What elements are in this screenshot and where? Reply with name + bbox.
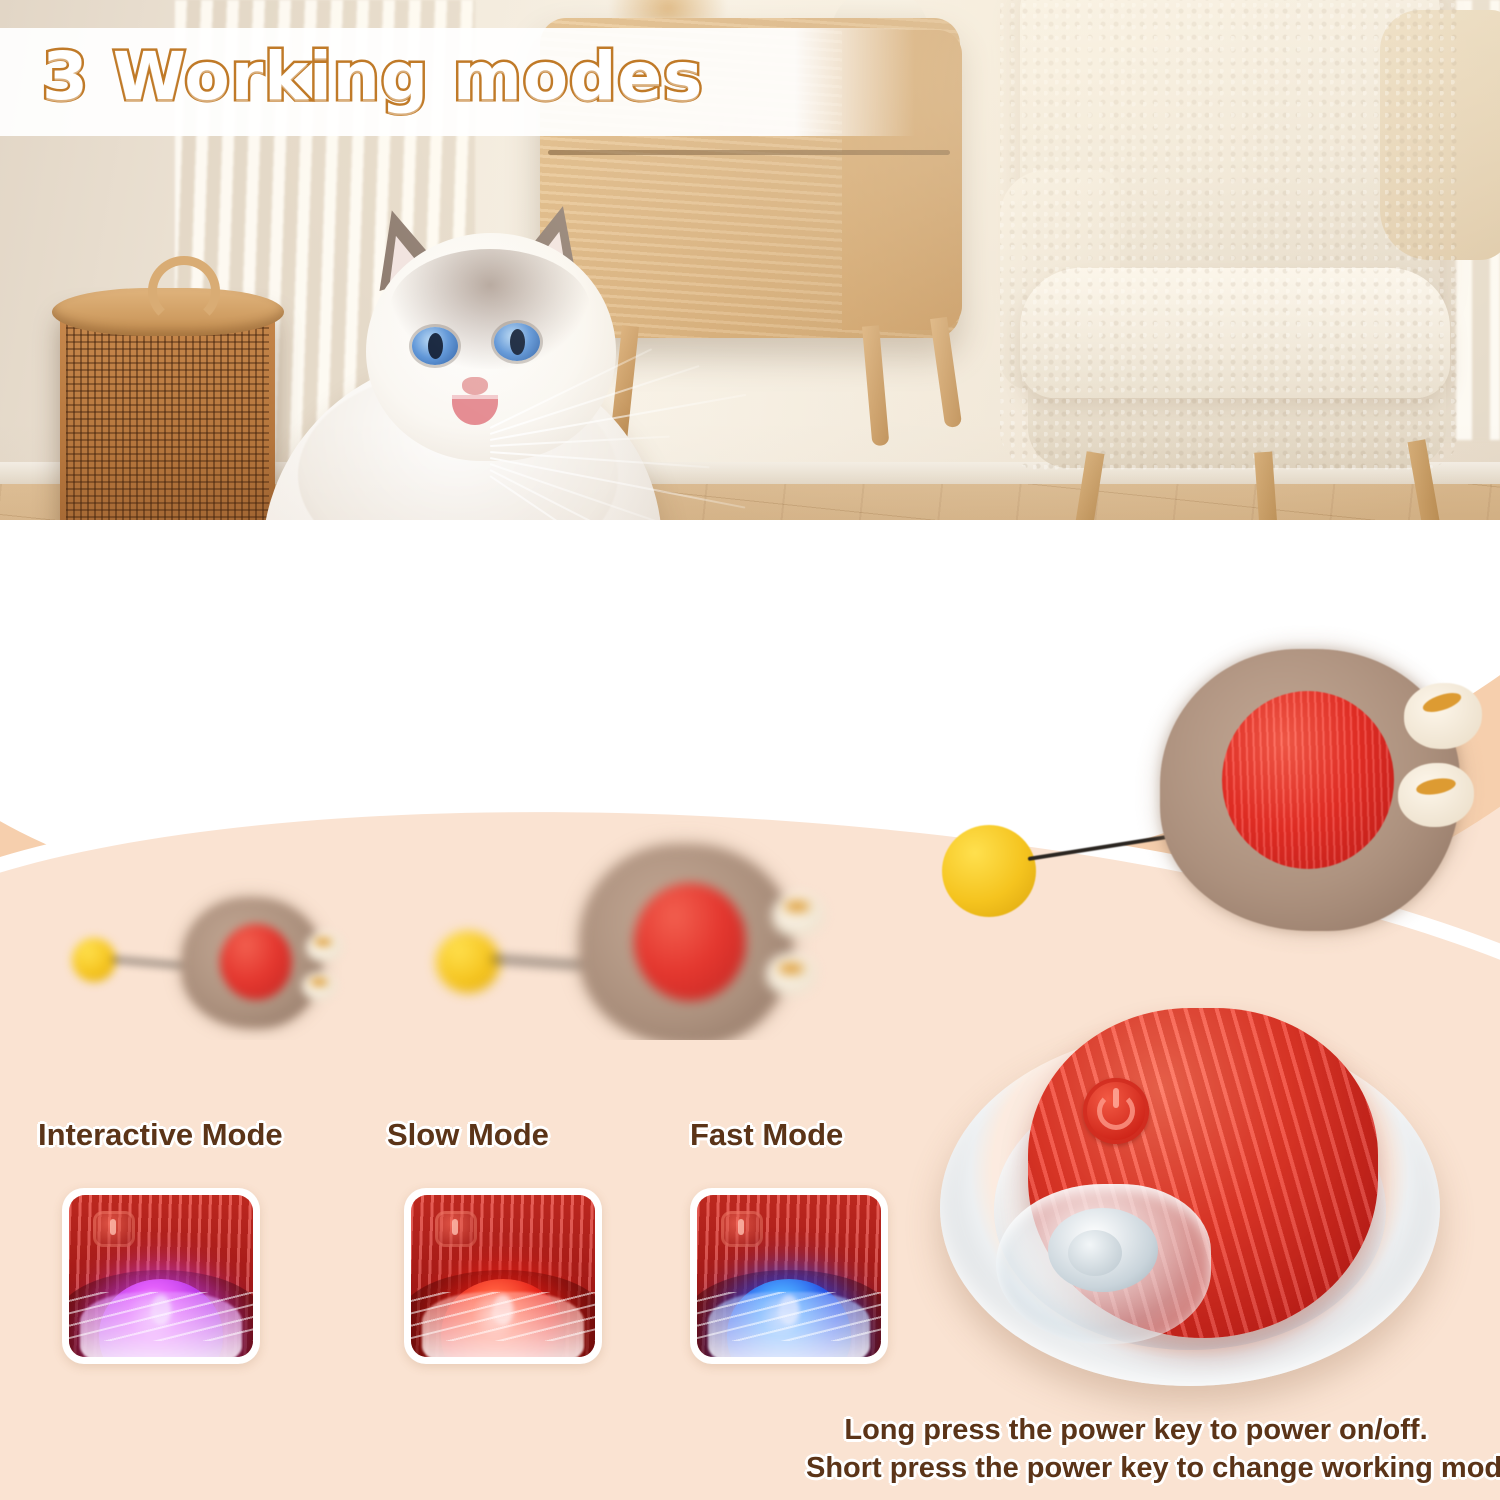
claw-tip bbox=[778, 963, 804, 974]
cat-nose bbox=[462, 377, 488, 395]
claw-tuft bbox=[306, 932, 342, 962]
claw-tip bbox=[310, 978, 328, 986]
clear-base-edges bbox=[69, 1292, 253, 1341]
red-ball bbox=[220, 924, 292, 1000]
claw-tuft bbox=[1404, 683, 1482, 749]
mode-card-interactive[interactable] bbox=[62, 1188, 260, 1364]
cat-whisker bbox=[490, 394, 746, 441]
pom-pom bbox=[72, 938, 116, 982]
mode-label-interactive: Interactive Mode bbox=[38, 1117, 283, 1153]
page-title: 3 Working modes bbox=[42, 38, 703, 115]
motion-band bbox=[0, 520, 1500, 1040]
usage-caption: Long press the power key to power on/off… bbox=[806, 1412, 1466, 1487]
clear-base-edges bbox=[697, 1292, 881, 1341]
power-button-icon bbox=[435, 1211, 477, 1247]
dried-pampas bbox=[608, 0, 728, 20]
drive-wheel-hub bbox=[1068, 1230, 1122, 1276]
ball-ribs bbox=[1222, 691, 1394, 869]
mode-card-fast[interactable] bbox=[690, 1188, 888, 1364]
ball-ribs bbox=[634, 883, 746, 1001]
rolling-ball-instance-small bbox=[70, 890, 360, 1030]
cat-pupil-right bbox=[510, 329, 525, 355]
claw-tip bbox=[314, 938, 332, 946]
rolling-ball-instance-large bbox=[930, 635, 1500, 945]
red-ball bbox=[634, 883, 746, 1001]
ball-ribs bbox=[220, 924, 292, 1000]
mode-photo-fast bbox=[697, 1195, 881, 1357]
cat-whisker bbox=[490, 436, 670, 447]
title-banner-fade bbox=[795, 28, 915, 136]
power-button-icon bbox=[721, 1211, 763, 1247]
claw-tuft bbox=[766, 953, 816, 995]
boucle-texture bbox=[1000, 0, 1460, 470]
clear-base-edges bbox=[411, 1292, 595, 1341]
cat-whisker bbox=[490, 451, 710, 468]
claw-tuft bbox=[302, 972, 336, 1000]
claw-tuft bbox=[1398, 763, 1474, 827]
hero-product bbox=[940, 1008, 1440, 1388]
red-ball bbox=[1222, 691, 1394, 869]
caption-line-2: Short press the power key to change work… bbox=[806, 1450, 1466, 1488]
product-infographic: 3 Working modes bbox=[0, 0, 1500, 1500]
mode-card-slow[interactable] bbox=[404, 1188, 602, 1364]
caption-line-1: Long press the power key to power on/off… bbox=[806, 1412, 1466, 1450]
cat-whiskers bbox=[490, 391, 770, 521]
power-button-icon bbox=[93, 1211, 135, 1247]
mode-photo-slow bbox=[411, 1195, 595, 1357]
mode-label-fast: Fast Mode bbox=[690, 1117, 843, 1153]
pom-pom bbox=[942, 825, 1036, 917]
pom-pom bbox=[436, 931, 500, 993]
mode-label-slow: Slow Mode bbox=[387, 1117, 549, 1153]
cat-pupil-left bbox=[428, 333, 443, 359]
power-button-icon[interactable] bbox=[1083, 1078, 1149, 1144]
claw-tuft bbox=[772, 893, 824, 937]
nightstand-drawer-gap bbox=[548, 150, 950, 155]
mode-photo-interactive bbox=[69, 1195, 253, 1357]
basket-knob bbox=[148, 256, 220, 326]
claw-tip bbox=[784, 901, 810, 912]
